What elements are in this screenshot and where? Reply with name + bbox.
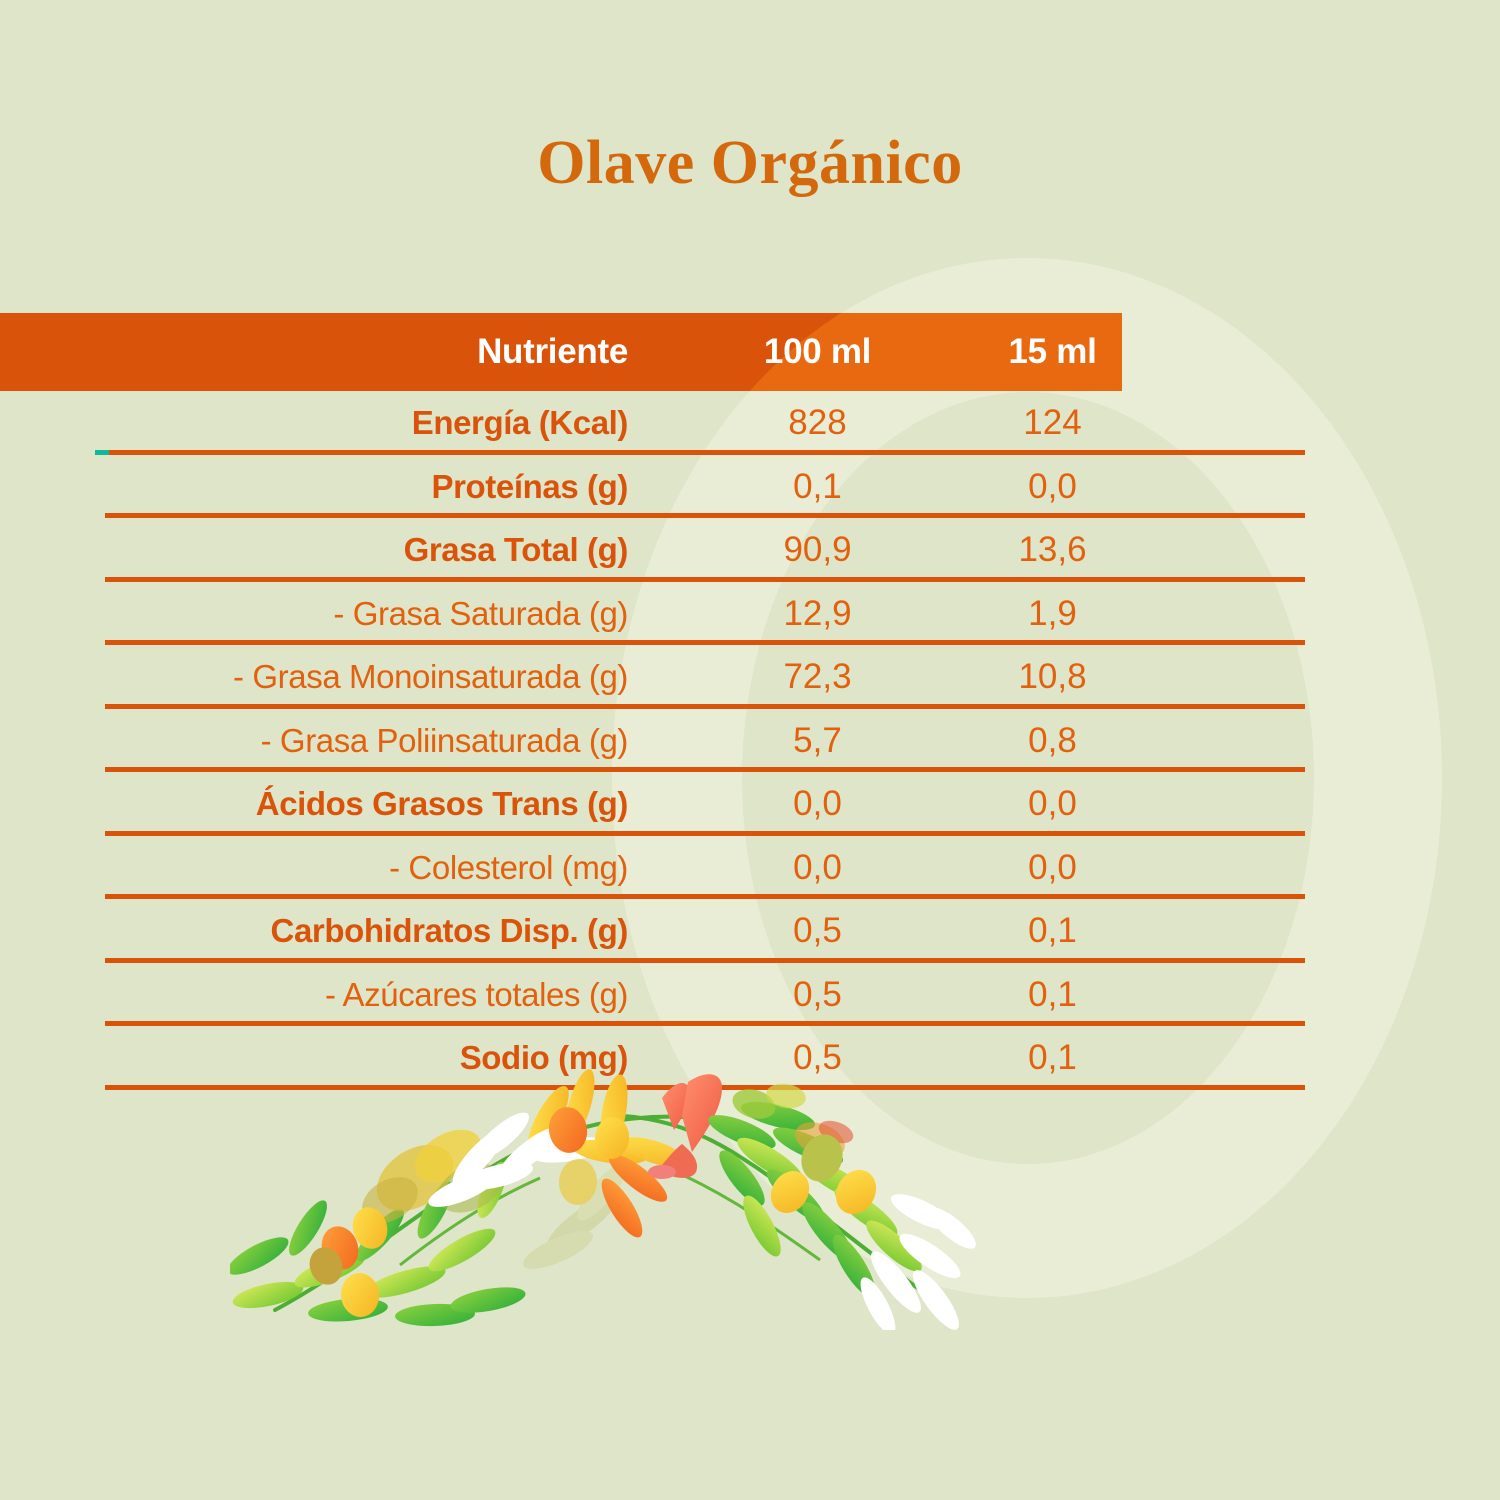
column-header-nutrient: Nutriente [0, 313, 628, 391]
table-row: Energía (Kcal)828124 [0, 391, 1500, 455]
value-100ml: 0,5 [700, 963, 935, 1027]
table-row: Carbohidratos Disp. (g)0,50,1 [0, 899, 1500, 963]
table-row: - Grasa Poliinsaturada (g)5,70,8 [0, 709, 1500, 773]
nutrient-label: Energía (Kcal) [0, 391, 628, 455]
value-15ml: 0,8 [935, 709, 1170, 773]
value-100ml: 12,9 [700, 582, 935, 646]
nutrient-label: - Azúcares totales (g) [0, 963, 628, 1027]
page-title: Olave Orgánico [0, 128, 1500, 199]
value-15ml: 0,0 [935, 772, 1170, 836]
nutrient-label: Ácidos Grasos Trans (g) [0, 772, 628, 836]
table-row: Ácidos Grasos Trans (g)0,00,0 [0, 772, 1500, 836]
value-15ml: 0,0 [935, 836, 1170, 900]
value-15ml: 13,6 [935, 518, 1170, 582]
column-header-100ml: 100 ml [700, 313, 935, 391]
value-15ml: 10,8 [935, 645, 1170, 709]
table-row: - Grasa Monoinsaturada (g)72,310,8 [0, 645, 1500, 709]
table-row: - Grasa Saturada (g)12,91,9 [0, 582, 1500, 646]
value-100ml: 72,3 [700, 645, 935, 709]
nutrient-label: - Grasa Saturada (g) [0, 582, 628, 646]
value-15ml: 1,9 [935, 582, 1170, 646]
nutrient-label: - Colesterol (mg) [0, 836, 628, 900]
value-15ml: 124 [935, 391, 1170, 455]
nutrient-label: - Grasa Monoinsaturada (g) [0, 645, 628, 709]
value-100ml: 0,0 [700, 836, 935, 900]
nutrition-table: Energía (Kcal)828124Proteínas (g)0,10,0G… [0, 391, 1500, 1090]
table-row: - Colesterol (mg)0,00,0 [0, 836, 1500, 900]
nutrition-label-page: Olave Orgánico Nutriente 100 ml 15 ml En… [0, 0, 1500, 1500]
value-100ml: 828 [700, 391, 935, 455]
nutrient-label: - Grasa Poliinsaturada (g) [0, 709, 628, 773]
table-row: Proteínas (g)0,10,0 [0, 455, 1500, 519]
value-15ml: 0,0 [935, 455, 1170, 519]
table-row: - Azúcares totales (g)0,50,1 [0, 963, 1500, 1027]
value-15ml: 0,1 [935, 963, 1170, 1027]
column-header-15ml: 15 ml [935, 313, 1122, 391]
nutrient-label: Grasa Total (g) [0, 518, 628, 582]
value-15ml: 0,1 [935, 899, 1170, 963]
nutrient-label: Carbohidratos Disp. (g) [0, 899, 628, 963]
value-100ml: 90,9 [700, 518, 935, 582]
nutrient-label: Proteínas (g) [0, 455, 628, 519]
table-header-band: Nutriente 100 ml 15 ml [0, 313, 1122, 391]
olive-branch-illustration [230, 1060, 990, 1330]
value-100ml: 5,7 [700, 709, 935, 773]
value-100ml: 0,0 [700, 772, 935, 836]
value-100ml: 0,1 [700, 455, 935, 519]
value-100ml: 0,5 [700, 899, 935, 963]
table-row: Grasa Total (g)90,913,6 [0, 518, 1500, 582]
